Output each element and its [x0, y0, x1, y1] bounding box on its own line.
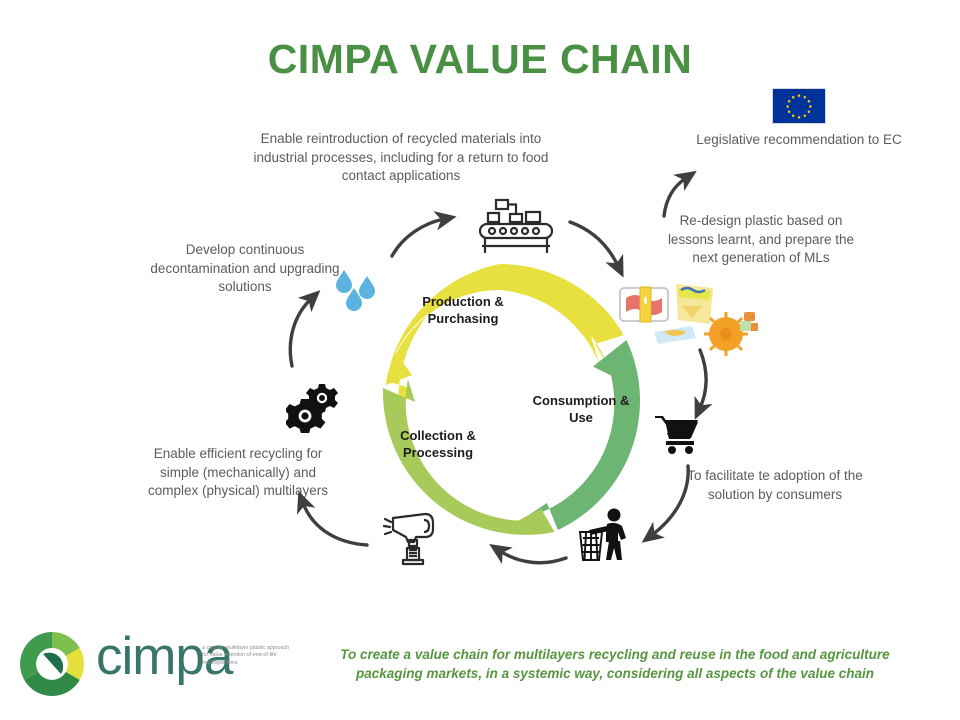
- caption-legislative: Legislative recommendation to EC: [692, 131, 906, 150]
- dispose-in-bin-icon: [576, 508, 634, 568]
- arrow-to-legislative: [664, 178, 686, 216]
- caption-facilitate: To facilitate te adoption of the solutio…: [670, 467, 880, 504]
- conveyor-belt-icon: [476, 196, 556, 263]
- cimpa-logo: cimpa a circular multilayer plastic appr…: [16, 628, 306, 700]
- caption-reintroduction: Enable reintroduction of recycled materi…: [236, 130, 566, 186]
- barcode-scanner-icon: [383, 508, 445, 571]
- footer-statement: To create a value chain for multilayers …: [330, 645, 900, 683]
- cimpa-logo-mark: [16, 628, 88, 700]
- arrow-to-develop: [290, 299, 311, 366]
- eu-flag-icon: [772, 88, 826, 124]
- slide-canvas: CIMPA VALUE CHAIN Enable reintroduction …: [0, 0, 960, 720]
- arrow-to-packaging: [570, 222, 618, 266]
- food-packaging-icon: [618, 282, 758, 365]
- caption-recycling: Enable efficient recycling for simple (m…: [134, 445, 342, 501]
- page-title: CIMPA VALUE CHAIN: [0, 36, 960, 83]
- water-drops-icon: [334, 266, 386, 319]
- caption-develop: Develop continuous decontamination and u…: [145, 241, 345, 297]
- arrow-to-collection: [500, 551, 566, 563]
- cimpa-tagline: a circular multilayer plastic approach f…: [202, 645, 294, 667]
- caption-redesign: Re-design plastic based on lessons learn…: [655, 212, 867, 268]
- arrow-to-production: [392, 219, 444, 256]
- gears-icon: [286, 383, 342, 438]
- donut-hole: [438, 345, 562, 469]
- shopping-cart-icon: [654, 413, 700, 460]
